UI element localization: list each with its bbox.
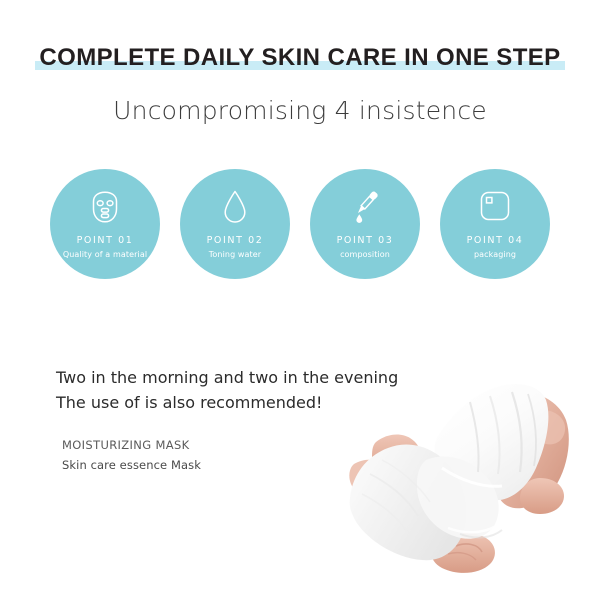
point-title-2: POINT 02 (207, 235, 264, 246)
product-name-secondary: Skin care essence Mask (62, 456, 322, 476)
point-subtitle-4: packaging (474, 250, 516, 259)
water-drop-icon (215, 187, 255, 227)
point-subtitle-3: composition (340, 250, 390, 259)
face-sheet-mask-icon (85, 187, 125, 227)
dropper-pipette-icon (345, 187, 385, 227)
point-title-4: POINT 04 (467, 235, 524, 246)
page-subtitle: Uncompromising 4 insistence (0, 96, 600, 125)
point-card-2[interactable]: POINT 02 Toning water (180, 169, 290, 279)
promo-page: COMPLETE DAILY SKIN CARE IN ONE STEP Unc… (0, 0, 600, 600)
point-card-4[interactable]: POINT 04 packaging (440, 169, 550, 279)
point-title-3: POINT 03 (337, 235, 394, 246)
package-pouch-icon (475, 187, 515, 227)
page-title: COMPLETE DAILY SKIN CARE IN ONE STEP (39, 44, 560, 72)
point-card-1[interactable]: POINT 01 Quality of a material (50, 169, 160, 279)
point-card-3[interactable]: POINT 03 composition (310, 169, 420, 279)
points-row: POINT 01 Quality of a material POINT 02 … (50, 169, 550, 281)
headline-wrapper: COMPLETE DAILY SKIN CARE IN ONE STEP (35, 44, 564, 72)
product-name-primary: MOISTURIZING MASK (62, 436, 322, 456)
header: COMPLETE DAILY SKIN CARE IN ONE STEP (0, 44, 600, 72)
point-title-1: POINT 01 (77, 235, 134, 246)
point-subtitle-2: Toning water (209, 250, 261, 259)
product-names: MOISTURIZING MASK Skin care essence Mask (62, 436, 322, 475)
point-subtitle-1: Quality of a material (63, 250, 147, 259)
product-photo-hands-holding-mask (330, 368, 600, 600)
